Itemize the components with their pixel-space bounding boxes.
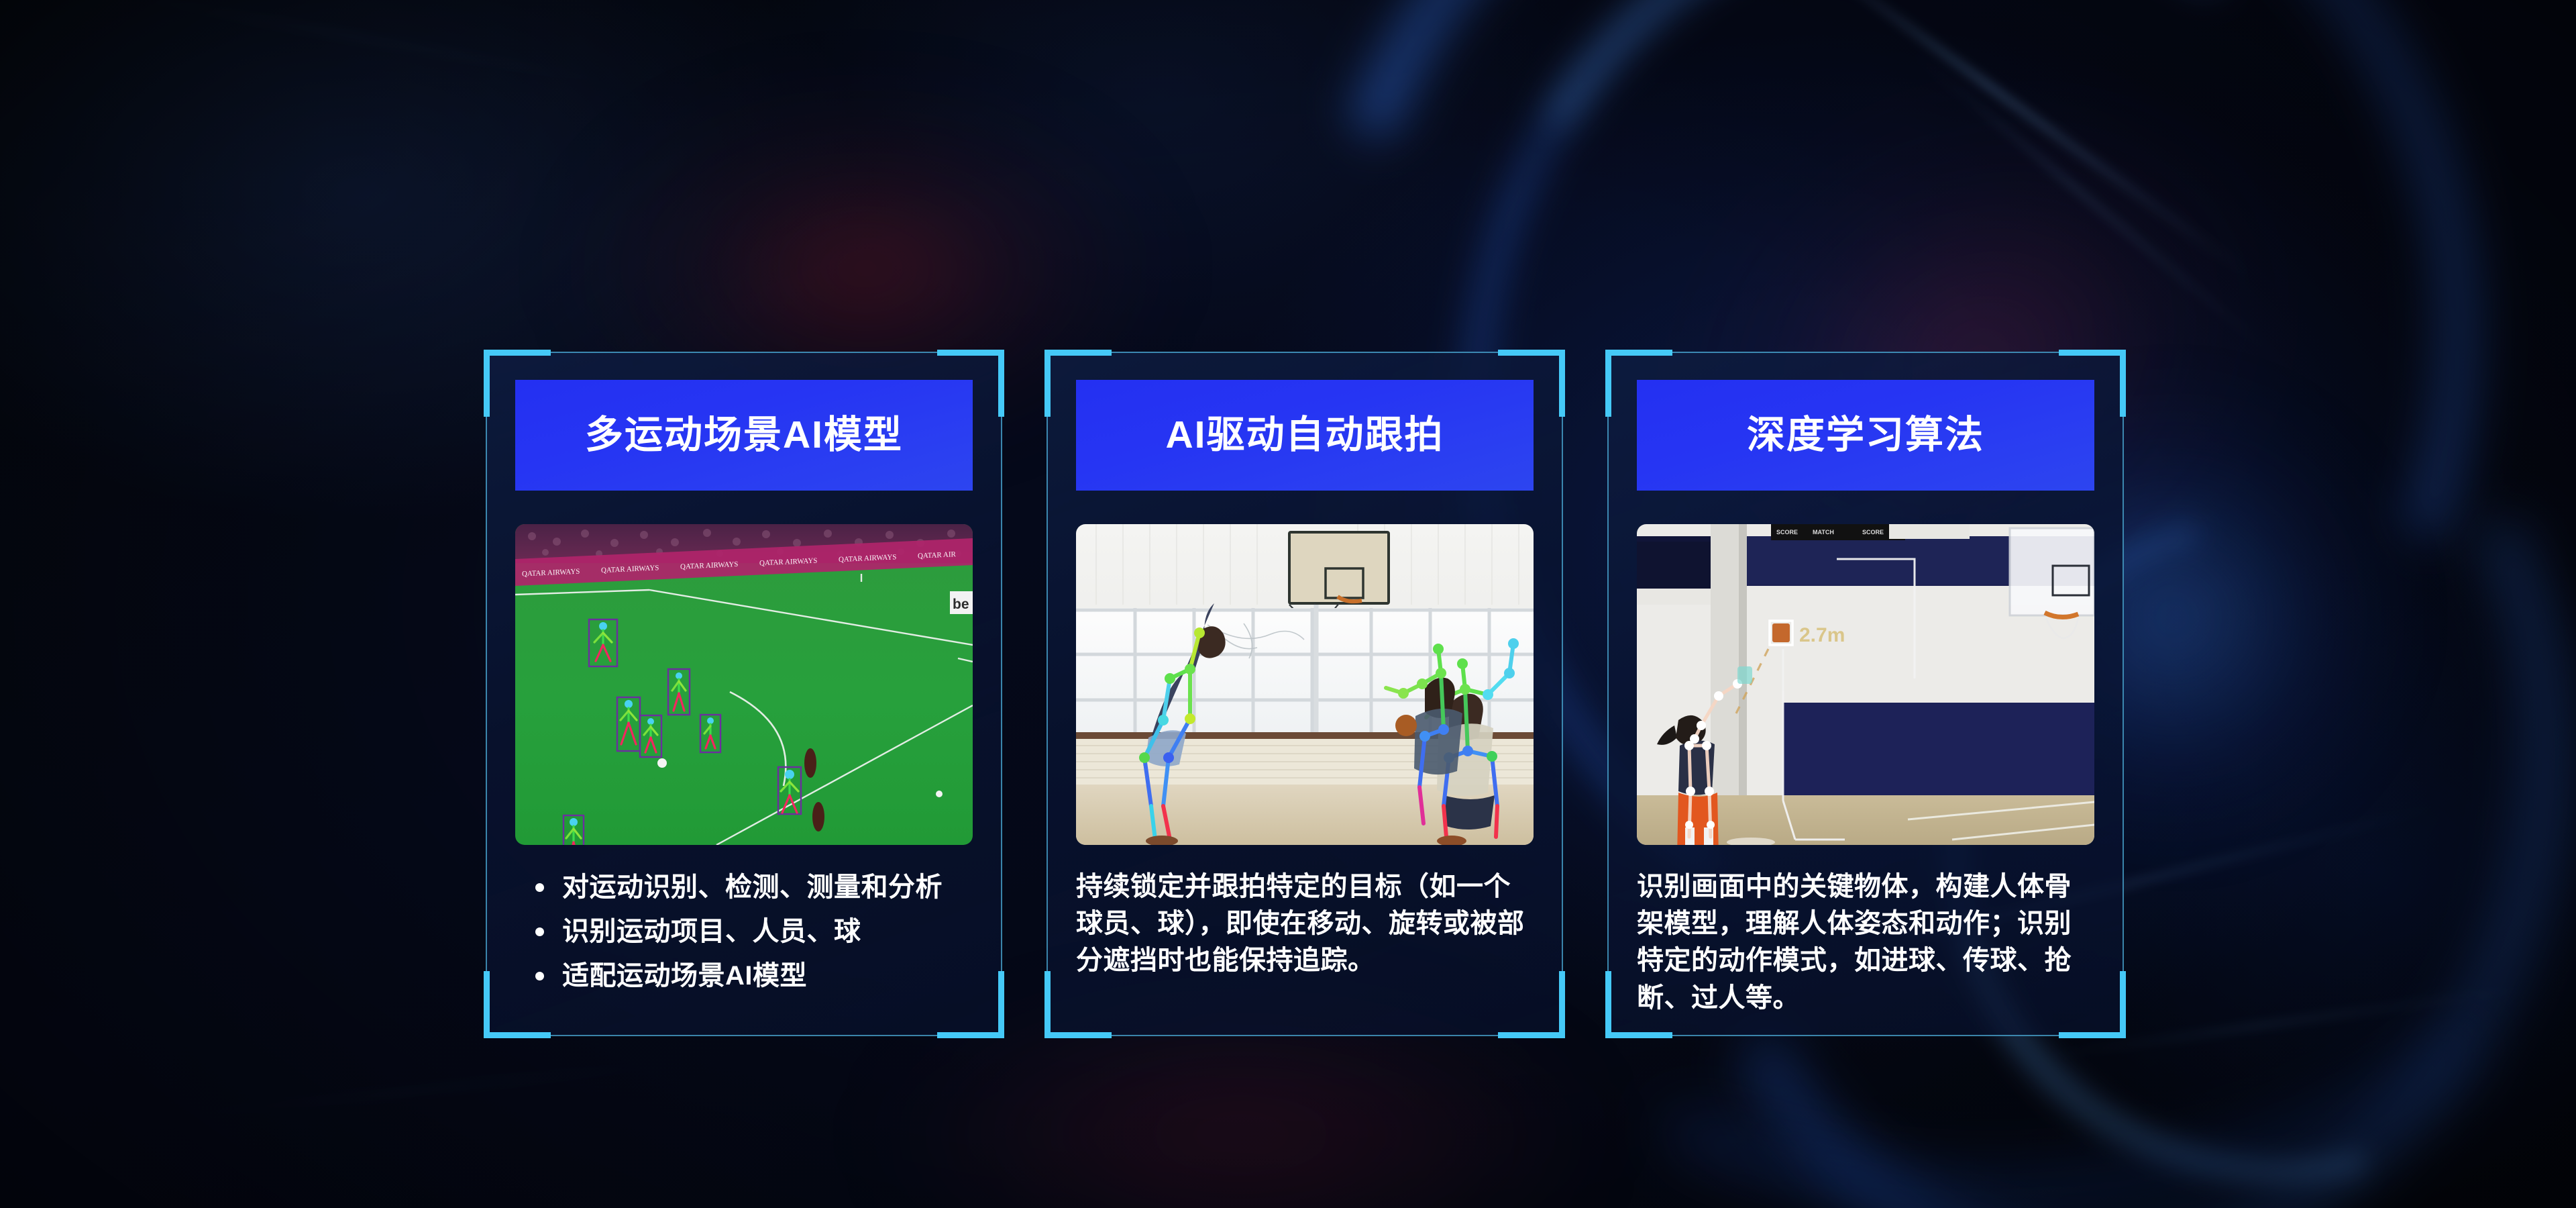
- feature-bullet-list: 对运动识别、检测、测量和分析 识别运动项目、人员、球 适配运动场景AI模型: [515, 868, 975, 995]
- card-header-band: 深度学习算法: [1637, 380, 2094, 491]
- card-header-band: AI驱动自动跟拍: [1076, 380, 1534, 491]
- card-title: AI驱动自动跟拍: [1166, 416, 1444, 454]
- soccer-pose-detection-thumbnail[interactable]: QATAR AIRWAYS QATAR AIRWAYS QATAR AIRWAY…: [515, 524, 973, 845]
- svg-text:2.7m: 2.7m: [1799, 624, 1845, 646]
- svg-text:SCORE: SCORE: [1862, 529, 1884, 536]
- list-item: 识别运动项目、人员、球: [531, 913, 975, 951]
- basketball-pose-tracking-thumbnail[interactable]: [1076, 524, 1534, 845]
- card-description: 识别画面中的关键物体，构建人体骨架模型，理解人体姿态和动作；识别特定的动作模式，…: [1637, 868, 2097, 1017]
- feature-card-multi-sport-ai-model[interactable]: 多运动场景AI模型: [486, 352, 1002, 1036]
- svg-text:MATCH: MATCH: [1813, 529, 1834, 536]
- feature-card-row: 多运动场景AI模型: [486, 352, 2124, 1036]
- card-header-band: 多运动场景AI模型: [515, 380, 973, 491]
- list-item: 适配运动场景AI模型: [531, 957, 975, 995]
- svg-text:SCORE: SCORE: [1776, 529, 1798, 536]
- card-title: 多运动场景AI模型: [585, 416, 903, 454]
- list-item: 对运动识别、检测、测量和分析: [531, 868, 975, 907]
- description-paragraph: 识别画面中的关键物体，构建人体骨架模型，理解人体姿态和动作；识别特定的动作模式，…: [1637, 868, 2097, 1017]
- feature-card-deep-learning-algorithm[interactable]: 深度学习算法 SCORE MATCH: [1607, 352, 2124, 1036]
- feature-card-ai-auto-tracking[interactable]: AI驱动自动跟拍: [1046, 352, 1563, 1036]
- card-title: 深度学习算法: [1747, 416, 1984, 454]
- basketball-shot-measurement-thumbnail[interactable]: SCORE MATCH SCORE: [1637, 524, 2094, 845]
- card-description: 对运动识别、检测、测量和分析 识别运动项目、人员、球 适配运动场景AI模型: [515, 868, 975, 1001]
- card-description: 持续锁定并跟拍特定的目标（如一个球员、球），即使在移动、旋转或被部分遮挡时也能保…: [1076, 868, 1536, 980]
- description-paragraph: 持续锁定并跟拍特定的目标（如一个球员、球），即使在移动、旋转或被部分遮挡时也能保…: [1076, 868, 1536, 980]
- svg-text:be: be: [953, 597, 969, 612]
